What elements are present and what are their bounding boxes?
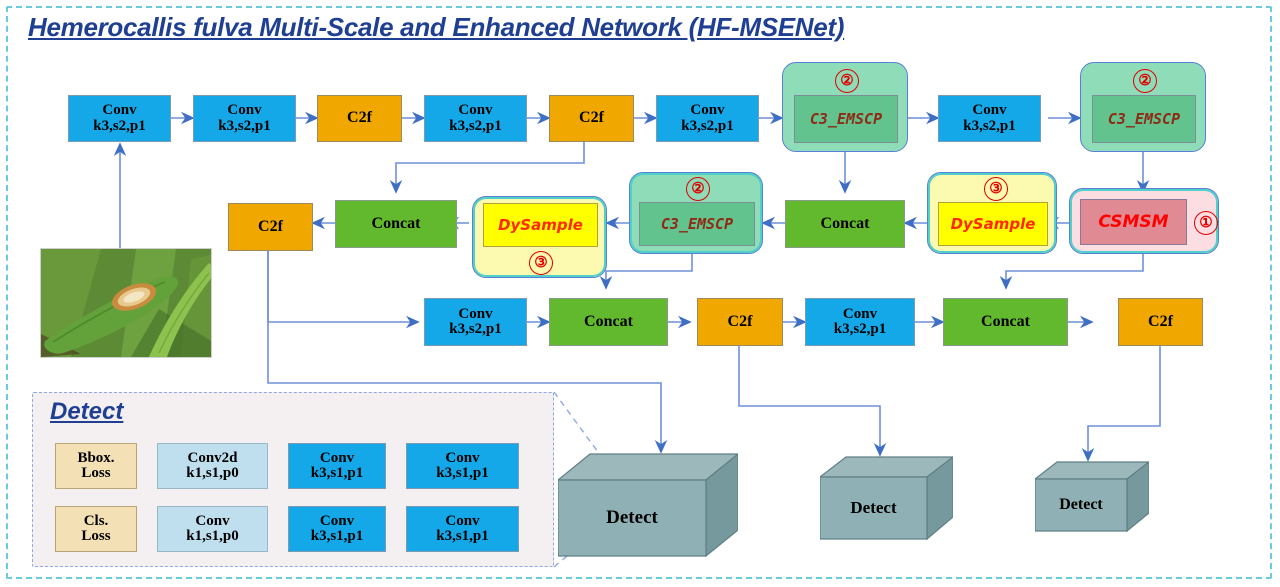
block-conv-backbone-1[interactable]: Conv k3,s2,p1	[68, 95, 171, 142]
block-bbox-loss[interactable]: Bbox. Loss	[55, 443, 137, 489]
block-label: DySample	[951, 215, 1036, 233]
block-c2f-backbone-2[interactable]: C2f	[549, 95, 634, 142]
detect-label: Detect	[850, 498, 896, 518]
block-label-line2: Loss	[81, 529, 110, 544]
block-label-line2: k3,s2,p1	[681, 119, 734, 134]
block-label-line1: Bbox.	[77, 451, 114, 466]
block-label-line2: k3,s1,p1	[436, 529, 489, 544]
block-concat-neck-2[interactable]: Concat	[785, 200, 905, 248]
block-dysample-1[interactable]: DySample ③	[472, 196, 607, 278]
block-label-line2: k3,s2,p1	[834, 322, 887, 337]
block-conv-backbone-2[interactable]: Conv k3,s2,p1	[193, 95, 296, 142]
block-label: DySample	[498, 216, 583, 234]
detect-panel-title: Detect	[50, 398, 123, 426]
block-label-line1: Conv	[195, 514, 229, 529]
block-label-line1: Conv	[445, 451, 479, 466]
badge-dysample: ③	[984, 177, 1008, 201]
block-label: C2f	[258, 219, 283, 235]
block-c3-emscp-backbone-1[interactable]: ② C3_EMSCP	[782, 62, 908, 152]
detect-output-medium[interactable]: Detect	[820, 455, 953, 540]
input-image	[40, 248, 212, 358]
diagram-root: Hemerocallis fulva Multi-Scale and Enhan…	[0, 0, 1280, 587]
block-label: Concat	[981, 314, 1030, 330]
block-c2f-neck-lower-1[interactable]: C2f	[697, 298, 783, 346]
block-label: Concat	[821, 216, 870, 232]
block-label-line2: k3,s1,p1	[311, 466, 364, 481]
block-label-line1: Conv	[972, 103, 1006, 118]
block-label-line2: k3,s1,p1	[436, 466, 489, 481]
block-concat-neck-lower-1[interactable]: Concat	[549, 298, 668, 346]
block-label: C2f	[728, 314, 753, 330]
block-label: C3_EMSCP	[661, 215, 733, 233]
block-label-line1: Conv	[102, 103, 136, 118]
detect-output-label: Detect	[820, 477, 927, 539]
block-c3-emscp-label: C3_EMSCP	[794, 95, 898, 143]
block-concat-neck-lower-2[interactable]: Concat	[943, 298, 1068, 346]
block-conv2d-k1-bbox[interactable]: Conv2d k1,s1,p0	[157, 443, 268, 489]
page-title: Hemerocallis fulva Multi-Scale and Enhan…	[28, 12, 844, 43]
block-label: C3_EMSCP	[1108, 110, 1180, 128]
block-c2f-neck-lower-2[interactable]: C2f	[1118, 298, 1203, 346]
block-label-line2: k3,s2,p1	[218, 119, 271, 134]
block-c3-emscp-label: C3_EMSCP	[1092, 95, 1196, 143]
block-label-line1: Conv	[458, 103, 492, 118]
block-label-line1: Conv	[227, 103, 261, 118]
block-label-line2: k3,s2,p1	[93, 119, 146, 134]
detect-output-large[interactable]: Detect	[558, 452, 738, 557]
block-label-line1: Conv	[445, 514, 479, 529]
block-label-line2: k3,s2,p1	[449, 119, 502, 134]
block-conv-k1-cls[interactable]: Conv k1,s1,p0	[157, 506, 268, 552]
block-label: C2f	[579, 110, 604, 126]
block-label: C3_EMSCP	[810, 110, 882, 128]
block-cls-loss[interactable]: Cls. Loss	[55, 506, 137, 552]
block-conv-s1-bbox-2[interactable]: Conv k3,s1,p1	[406, 443, 519, 489]
block-c3-emscp-neck[interactable]: ② C3_EMSCP	[629, 172, 763, 254]
block-conv-neck-lower-2[interactable]: Conv k3,s2,p1	[805, 298, 915, 346]
block-label-line2: k3,s1,p1	[311, 529, 364, 544]
block-dysample-label: DySample	[938, 202, 1048, 246]
block-conv-backbone-3[interactable]: Conv k3,s2,p1	[424, 95, 527, 142]
block-dysample-label: DySample	[483, 203, 598, 247]
block-label-line2: k3,s2,p1	[963, 119, 1016, 134]
block-dysample-2[interactable]: ③ DySample	[927, 172, 1057, 254]
badge-csmsm: ①	[1194, 211, 1218, 235]
block-c3-emscp-backbone-2[interactable]: ② C3_EMSCP	[1080, 62, 1206, 152]
badge-c3-emscp: ②	[835, 69, 859, 93]
block-label: Concat	[584, 314, 633, 330]
block-conv-backbone-4[interactable]: Conv k3,s2,p1	[656, 95, 759, 142]
block-label: Concat	[372, 216, 421, 232]
block-label: C2f	[347, 110, 372, 126]
block-label-line1: Conv	[843, 307, 877, 322]
block-label-line2: k1,s1,p0	[186, 466, 239, 481]
block-conv-neck-lower-1[interactable]: Conv k3,s2,p1	[424, 298, 527, 346]
block-c3-emscp-label: C3_EMSCP	[639, 202, 755, 246]
block-label-line1: Cls.	[84, 514, 109, 529]
block-label-line1: Conv	[320, 451, 354, 466]
block-c2f-neck-upper[interactable]: C2f	[228, 203, 313, 251]
block-conv-s1-bbox-1[interactable]: Conv k3,s1,p1	[288, 443, 386, 489]
block-label-line2: k1,s1,p0	[186, 529, 239, 544]
badge-dysample: ③	[529, 251, 553, 275]
detect-output-small[interactable]: Detect	[1035, 460, 1149, 532]
detect-label: Detect	[606, 507, 658, 529]
detect-output-label: Detect	[558, 480, 706, 556]
block-label-line1: Conv	[690, 103, 724, 118]
block-label-line1: Conv2d	[187, 451, 237, 466]
block-concat-neck-1[interactable]: Concat	[335, 200, 457, 248]
block-label-line1: Conv	[320, 514, 354, 529]
block-label: C2f	[1148, 314, 1173, 330]
block-conv-s1-cls-2[interactable]: Conv k3,s1,p1	[406, 506, 519, 552]
badge-c3-emscp: ②	[686, 177, 710, 201]
block-conv-backbone-5[interactable]: Conv k3,s2,p1	[938, 95, 1041, 142]
block-csmsm-label: CSMSM	[1080, 199, 1187, 245]
block-label-line1: Conv	[458, 307, 492, 322]
detect-label: Detect	[1059, 496, 1103, 514]
detect-output-label: Detect	[1035, 479, 1127, 531]
block-c2f-backbone-1[interactable]: C2f	[317, 95, 402, 142]
block-conv-s1-cls-1[interactable]: Conv k3,s1,p1	[288, 506, 386, 552]
block-label: CSMSM	[1098, 212, 1168, 232]
block-label-line2: Loss	[81, 466, 110, 481]
block-label-line2: k3,s2,p1	[449, 322, 502, 337]
badge-c3-emscp: ②	[1133, 69, 1157, 93]
block-csmsm[interactable]: CSMSM ①	[1069, 188, 1219, 254]
